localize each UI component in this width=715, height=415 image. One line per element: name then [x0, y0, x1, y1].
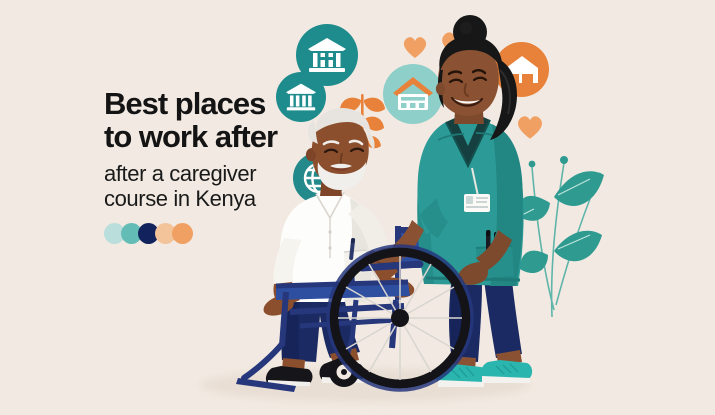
page-title: Best places to work after [104, 88, 354, 154]
page-subtitle: after a caregiver course in Kenya [104, 161, 354, 212]
text-block: Best places to work after after a caregi… [104, 88, 354, 244]
decorative-dot-row [104, 223, 354, 244]
dot-orange [172, 223, 193, 244]
poster-canvas: Best places to work after after a caregi… [0, 0, 715, 415]
